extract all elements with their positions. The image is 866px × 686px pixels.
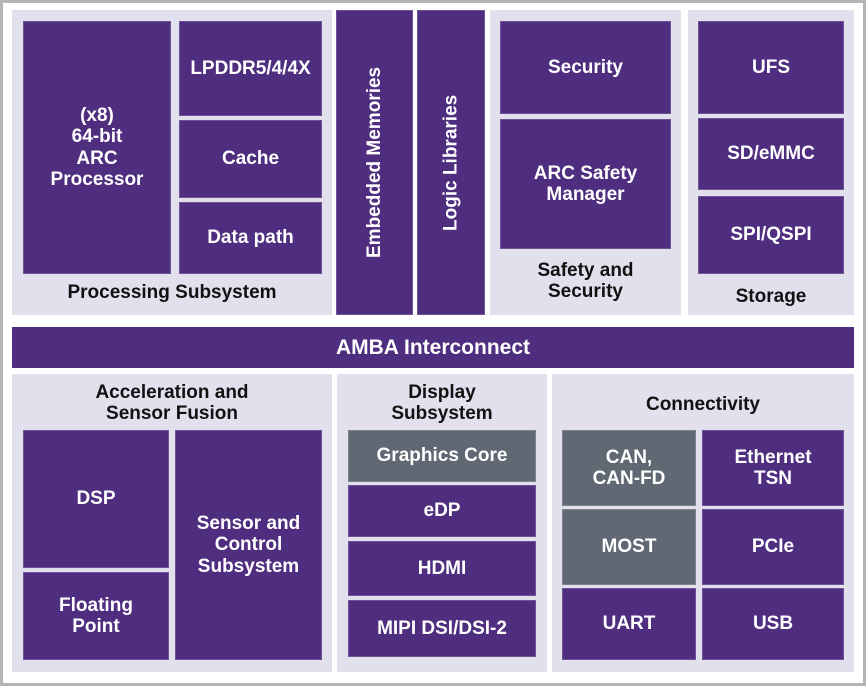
diagram-canvas: (x8)64-bitARCProcessor LPDDR5/4/4X Cache… [3, 3, 863, 683]
block-usb[interactable]: USB [702, 588, 844, 660]
block-arc-processor[interactable]: (x8)64-bitARCProcessor [23, 21, 171, 274]
group-storage[interactable]: UFS SD/eMMC SPI/QSPI Storage [688, 10, 854, 315]
block-dsp[interactable]: DSP [23, 430, 169, 568]
block-logic-libraries[interactable]: Logic Libraries [417, 10, 485, 315]
block-sensor-and-control-subsystem[interactable]: Sensor andControlSubsystem [175, 430, 322, 660]
block-uart[interactable]: UART [562, 588, 696, 660]
group-label-display-subsystem: DisplaySubsystem [337, 382, 547, 425]
block-hdmi[interactable]: HDMI [348, 541, 536, 596]
block-most[interactable]: MOST [562, 509, 696, 585]
block-lpddr[interactable]: LPDDR5/4/4X [179, 21, 322, 116]
block-pcie[interactable]: PCIe [702, 509, 844, 585]
group-label-connectivity: Connectivity [552, 394, 854, 415]
block-floating-point[interactable]: FloatingPoint [23, 572, 169, 660]
block-security[interactable]: Security [500, 21, 671, 114]
block-spi-qspi[interactable]: SPI/QSPI [698, 196, 844, 274]
block-edp[interactable]: eDP [348, 485, 536, 537]
block-arc-safety-manager[interactable]: ARC SafetyManager [500, 119, 671, 249]
block-cache[interactable]: Cache [179, 120, 322, 198]
group-label-safety-and-security: Safety andSecurity [490, 260, 681, 303]
block-ethernet-tsn[interactable]: EthernetTSN [702, 430, 844, 506]
block-mipi-dsi[interactable]: MIPI DSI/DSI-2 [348, 600, 536, 657]
block-embedded-memories[interactable]: Embedded Memories [336, 10, 413, 315]
group-acceleration-and-sensor-fusion[interactable]: Acceleration andSensor Fusion DSP Floati… [12, 374, 332, 672]
block-graphics-core[interactable]: Graphics Core [348, 430, 536, 482]
block-amba-interconnect[interactable]: AMBA Interconnect [12, 327, 854, 368]
group-label-processing-subsystem: Processing Subsystem [12, 282, 332, 303]
group-label-storage: Storage [688, 286, 854, 307]
block-sd-emmc[interactable]: SD/eMMC [698, 118, 844, 190]
group-label-acceleration-and-sensor-fusion: Acceleration andSensor Fusion [12, 382, 332, 425]
group-display-subsystem[interactable]: DisplaySubsystem Graphics Core eDP HDMI … [337, 374, 547, 672]
block-ufs[interactable]: UFS [698, 21, 844, 114]
group-connectivity[interactable]: Connectivity CAN,CAN-FD MOST UART Ethern… [552, 374, 854, 672]
group-processing-subsystem[interactable]: (x8)64-bitARCProcessor LPDDR5/4/4X Cache… [12, 10, 332, 315]
group-safety-and-security[interactable]: Security ARC SafetyManager Safety andSec… [490, 10, 681, 315]
block-can-canfd[interactable]: CAN,CAN-FD [562, 430, 696, 506]
block-data-path[interactable]: Data path [179, 202, 322, 274]
